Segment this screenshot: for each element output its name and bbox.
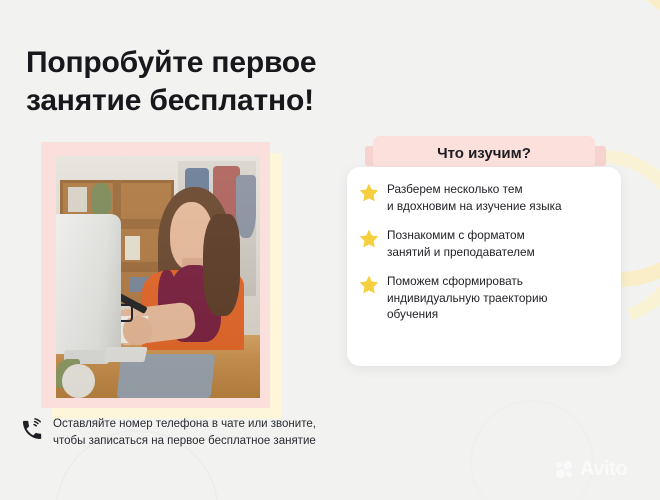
footer-line-2: чтобы записаться на первое бесплатное за…	[53, 433, 316, 450]
headline-line-1: Попробуйте первое	[26, 44, 426, 82]
avito-watermark: Avito	[556, 459, 627, 479]
list-item: Разберем несколько тем и вдохновим на из…	[358, 181, 607, 214]
page-title: Попробуйте первое занятие бесплатно!	[26, 44, 426, 119]
phone-ringing-icon	[20, 418, 44, 442]
list-item: Поможем сформировать индивидуальную трае…	[358, 273, 607, 323]
star-icon	[358, 274, 380, 296]
list-item-line-1: Познакомим с форматом	[387, 227, 535, 244]
headline-line-2: занятие бесплатно!	[26, 82, 426, 120]
decorative-circle-bottom-right	[470, 400, 594, 500]
footer-line-1: Оставляйте номер телефона в чате или зво…	[53, 416, 316, 433]
list-item-line-2: индивидуальную траекторию	[387, 290, 547, 307]
list-item-line-1: Разберем несколько тем	[387, 181, 562, 198]
list-item-text: Поможем сформировать индивидуальную трае…	[387, 273, 547, 323]
star-icon	[358, 228, 380, 250]
benefits-card: Разберем несколько тем и вдохновим на из…	[347, 167, 621, 366]
avito-wordmark: Avito	[580, 459, 627, 479]
list-item-line-2: занятий и преподавателем	[387, 244, 535, 261]
list-item-text: Познакомим с форматом занятий и преподав…	[387, 227, 535, 260]
footer-note: Оставляйте номер телефона в чате или зво…	[20, 416, 316, 449]
list-item: Познакомим с форматом занятий и преподав…	[358, 227, 607, 260]
list-item-line-1: Поможем сформировать	[387, 273, 547, 290]
photo-frame-pink	[41, 142, 270, 408]
photo-block	[41, 142, 270, 408]
avito-logo-icon	[556, 461, 575, 478]
footer-text: Оставляйте номер телефона в чате или зво…	[53, 416, 316, 449]
star-icon	[358, 182, 380, 204]
list-item-line-3: обучения	[387, 306, 547, 323]
ribbon-banner: Что изучим?	[373, 136, 595, 170]
banner-canvas: Попробуйте первое занятие бесплатно!	[0, 0, 660, 500]
list-item-text: Разберем несколько тем и вдохновим на из…	[387, 181, 562, 214]
photo-image	[56, 156, 260, 398]
ribbon-title: Что изучим?	[437, 145, 531, 162]
list-item-line-2: и вдохновим на изучение языка	[387, 198, 562, 215]
